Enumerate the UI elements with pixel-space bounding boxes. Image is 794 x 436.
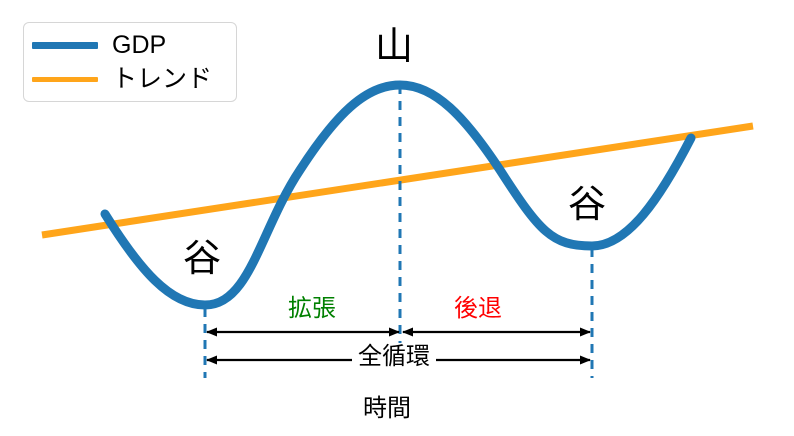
line-swatch-icon — [32, 42, 98, 49]
expansion-label: 拡張 — [288, 297, 336, 321]
legend-item-label: トレンド — [112, 67, 212, 92]
recession-label: 後退 — [454, 297, 502, 321]
figure-canvas: GDP トレンド 山 谷 谷 拡張 後退 全循環 時間 — [0, 0, 794, 436]
legend-item-trend[interactable]: トレンド — [32, 63, 212, 95]
peak-label: 山 — [375, 28, 413, 66]
legend-item-gdp[interactable]: GDP — [32, 29, 166, 61]
legend: GDP トレンド — [23, 22, 237, 102]
trough-right-label: 谷 — [568, 186, 606, 224]
trend-line — [42, 126, 753, 235]
trough-left-label: 谷 — [183, 240, 221, 278]
axis-time-label: 時間 — [363, 397, 411, 421]
legend-item-label: GDP — [112, 33, 166, 58]
full-cycle-label: 全循環 — [352, 345, 436, 369]
line-swatch-icon — [32, 77, 98, 82]
